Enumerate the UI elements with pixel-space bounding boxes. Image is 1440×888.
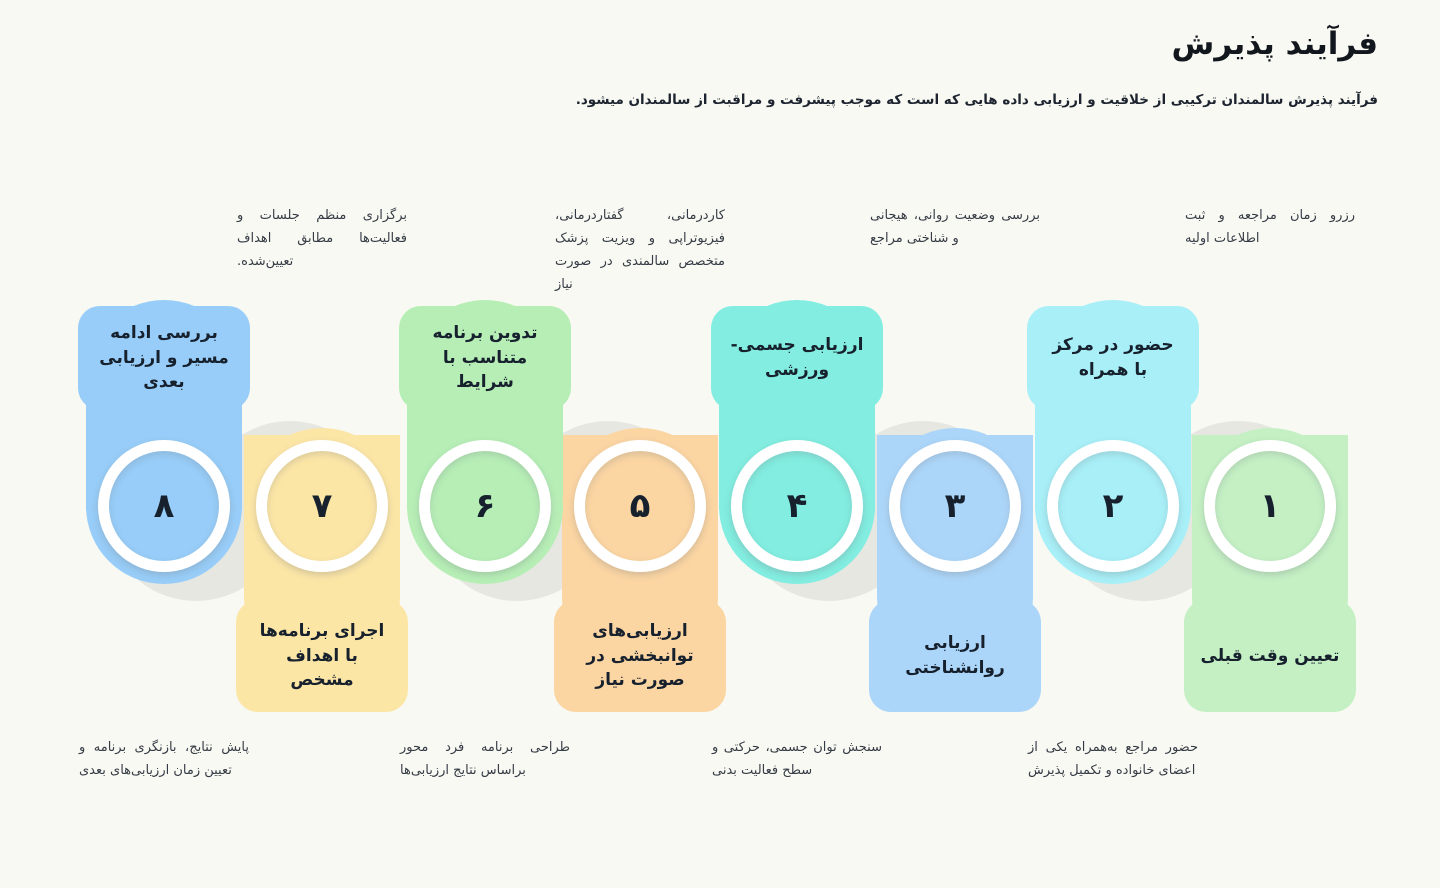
process-step[interactable]: ۵ارزیابی‌های توانبخشی در صورت نیازکاردرم… <box>550 0 730 888</box>
process-step[interactable]: ۸بررسی ادامه مسیر و ارزیابی بعدیپایش نتا… <box>74 0 254 888</box>
step-card-label: تعیین وقت قبلی <box>1201 644 1340 669</box>
process-step[interactable]: ۷اجرای برنامه‌ها با اهداف مشخصبرگزاری من… <box>232 0 412 888</box>
step-caption: بررسی وضعیت روانی، هیجانی و شناختی مراجع <box>870 204 1040 250</box>
step-number: ۱ <box>1204 440 1336 572</box>
step-card-label: ارزیابی جسمی-ورزشی <box>727 333 867 382</box>
step-caption: حضور مراجع به‌همراه یکی از اعضای خانواده… <box>1028 736 1198 782</box>
step-card[interactable]: ارزیابی جسمی-ورزشی <box>711 306 883 410</box>
step-card[interactable]: اجرای برنامه‌ها با اهداف مشخص <box>236 600 408 712</box>
step-card[interactable]: بررسی ادامه مسیر و ارزیابی بعدی <box>78 306 250 410</box>
step-caption: کاردرمانی، گفتاردرمانی، فیزیوتراپی و ویز… <box>555 204 725 297</box>
step-number: ۷ <box>256 440 388 572</box>
step-card[interactable]: تعیین وقت قبلی <box>1184 600 1356 712</box>
process-step[interactable]: ۱تعیین وقت قبلیرزرو زمان مراجعه و ثبت اط… <box>1180 0 1360 888</box>
step-number: ۶ <box>419 440 551 572</box>
step-caption: سنجش توان جسمی، حرکتی و سطح فعالیت بدنی <box>712 736 882 782</box>
step-caption: رزرو زمان مراجعه و ثبت اطلاعات اولیه <box>1185 204 1355 250</box>
step-caption: پایش نتایج، بازنگری برنامه و تعیین زمان … <box>79 736 249 782</box>
step-number: ۴ <box>731 440 863 572</box>
step-caption: طراحی برنامه فرد محور براساس نتایج ارزیا… <box>400 736 570 782</box>
step-card-label: تدوین برنامه متناسب با شرایط <box>415 321 555 395</box>
step-number: ۳ <box>889 440 1021 572</box>
process-step[interactable]: ۳ارزیابی روانشناختیبررسی وضعیت روانی، هی… <box>865 0 1045 888</box>
process-timeline: ۱تعیین وقت قبلیرزرو زمان مراجعه و ثبت اط… <box>0 0 1440 888</box>
step-caption: برگزاری منظم جلسات و فعالیت‌ها مطابق اهد… <box>237 204 407 273</box>
step-card-label: ارزیابی روانشناختی <box>885 631 1025 680</box>
step-number: ۲ <box>1047 440 1179 572</box>
step-card-label: ارزیابی‌های توانبخشی در صورت نیاز <box>570 619 710 693</box>
step-card[interactable]: تدوین برنامه متناسب با شرایط <box>399 306 571 410</box>
process-step[interactable]: ۴ارزیابی جسمی-ورزشیسنجش توان جسمی، حرکتی… <box>707 0 887 888</box>
step-card-label: اجرای برنامه‌ها با اهداف مشخص <box>252 619 392 693</box>
step-card-label: بررسی ادامه مسیر و ارزیابی بعدی <box>94 321 234 395</box>
step-number: ۵ <box>574 440 706 572</box>
step-card[interactable]: ارزیابی‌های توانبخشی در صورت نیاز <box>554 600 726 712</box>
step-card[interactable]: حضور در مرکز با همراه <box>1027 306 1199 410</box>
step-number: ۸ <box>98 440 230 572</box>
process-step[interactable]: ۶تدوین برنامه متناسب با شرایططراحی برنام… <box>395 0 575 888</box>
step-card-label: حضور در مرکز با همراه <box>1043 333 1183 382</box>
step-card[interactable]: ارزیابی روانشناختی <box>869 600 1041 712</box>
process-step[interactable]: ۲حضور در مرکز با همراهحضور مراجع به‌همرا… <box>1023 0 1203 888</box>
